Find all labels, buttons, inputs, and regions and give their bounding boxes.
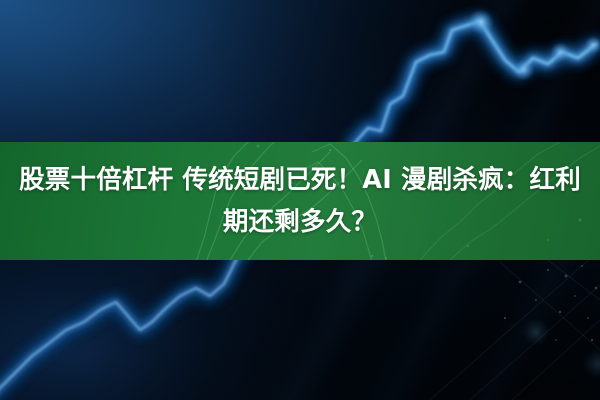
page-title: 股票十倍杠杆 传统短剧已死！AI 漫剧杀疯：红利 期还剩多久？ bbox=[17, 159, 583, 243]
headline-line-1: 股票十倍杠杆 传统短剧已死！AI 漫剧杀疯：红利 bbox=[17, 159, 583, 201]
thumbnail-canvas: 股票十倍杠杆 传统短剧已死！AI 漫剧杀疯：红利 期还剩多久？ bbox=[0, 0, 600, 400]
headline-line-2: 期还剩多久？ bbox=[17, 201, 583, 243]
headline-banner: 股票十倍杠杆 传统短剧已死！AI 漫剧杀疯：红利 期还剩多久？ bbox=[0, 142, 600, 260]
